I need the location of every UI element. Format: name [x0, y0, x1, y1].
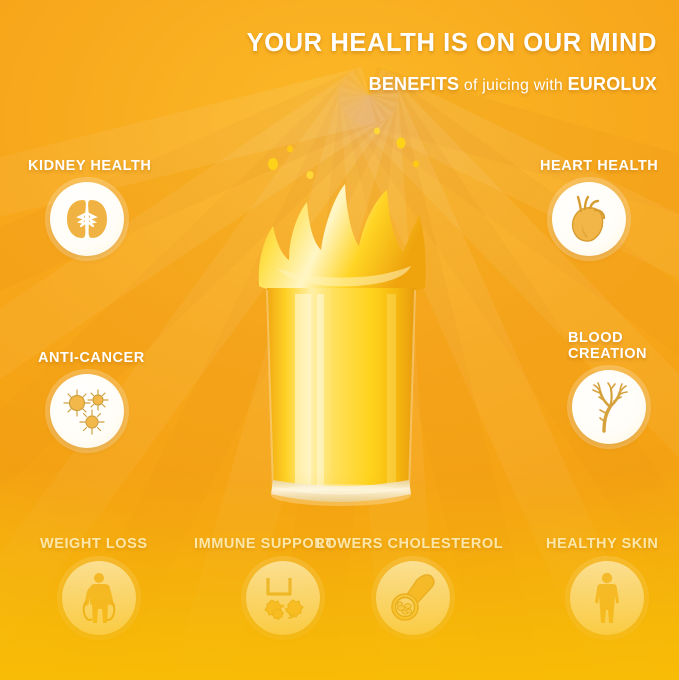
benefit-lowers-cholesterol: LOWERS CHOLESTEROL — [316, 536, 503, 635]
benefit-immune-support: IMMUNE SUPPORT — [194, 536, 335, 635]
page-subtitle: BENEFITS of juicing with EUROLUX — [0, 74, 657, 95]
benefit-icon-circle-healthy-skin — [570, 561, 644, 635]
benefit-label-healthy-skin: HEALTHY SKIN — [546, 536, 658, 552]
benefit-label-weight-loss: WEIGHT LOSS — [40, 536, 148, 552]
benefit-label-cholesterol: LOWERS CHOLESTEROL — [316, 536, 503, 552]
kidneys-icon — [61, 194, 113, 244]
orange-juice-glass-splash — [255, 118, 427, 518]
benefit-heart-health: HEART HEALTH — [540, 158, 658, 256]
anatomical-heart-icon — [566, 193, 612, 245]
benefit-icon-circle-cholesterol — [376, 561, 450, 635]
benefit-healthy-skin: HEALTHY SKIN — [546, 536, 658, 635]
benefit-icon-circle-kidney — [50, 182, 124, 256]
benefit-icon-circle-anti-cancer — [50, 374, 124, 448]
subtitle-middle: of juicing with — [459, 77, 567, 94]
benefit-label-blood: BLOOD CREATION — [568, 330, 647, 362]
benefit-anti-cancer: ANTI-CANCER — [38, 350, 145, 448]
artery-plaque-icon — [387, 572, 439, 624]
benefit-icon-circle-weight-loss — [62, 561, 136, 635]
cancer-cells-icon — [60, 384, 114, 438]
benefit-icon-circle-heart — [552, 182, 626, 256]
subtitle-benefits: BENEFITS — [369, 74, 460, 94]
benefit-icon-circle-immune-support — [246, 561, 320, 635]
benefit-label-immune-support: IMMUNE SUPPORT — [194, 536, 335, 552]
body-measuring-tape-icon — [74, 571, 124, 625]
benefit-kidney-health: KIDNEY HEALTH — [28, 158, 151, 256]
subtitle-brand: EUROLUX — [568, 74, 657, 94]
page-title: YOUR HEALTH IS ON OUR MIND — [0, 29, 657, 58]
benefit-weight-loss: WEIGHT LOSS — [40, 536, 148, 635]
benefit-label-kidney: KIDNEY HEALTH — [28, 158, 151, 174]
benefit-label-anti-cancer: ANTI-CANCER — [38, 350, 145, 366]
benefit-label-heart: HEART HEALTH — [540, 158, 658, 174]
infographic-poster: YOUR HEALTH IS ON OUR MIND BENEFITS of j… — [0, 0, 679, 680]
blood-vessel-tree-icon — [584, 381, 634, 433]
human-body-icon — [587, 571, 627, 625]
benefit-blood-creation: BLOOD CREATION — [568, 330, 647, 444]
benefit-icon-circle-blood — [572, 370, 646, 444]
immune-shield-cells-icon — [256, 572, 310, 624]
